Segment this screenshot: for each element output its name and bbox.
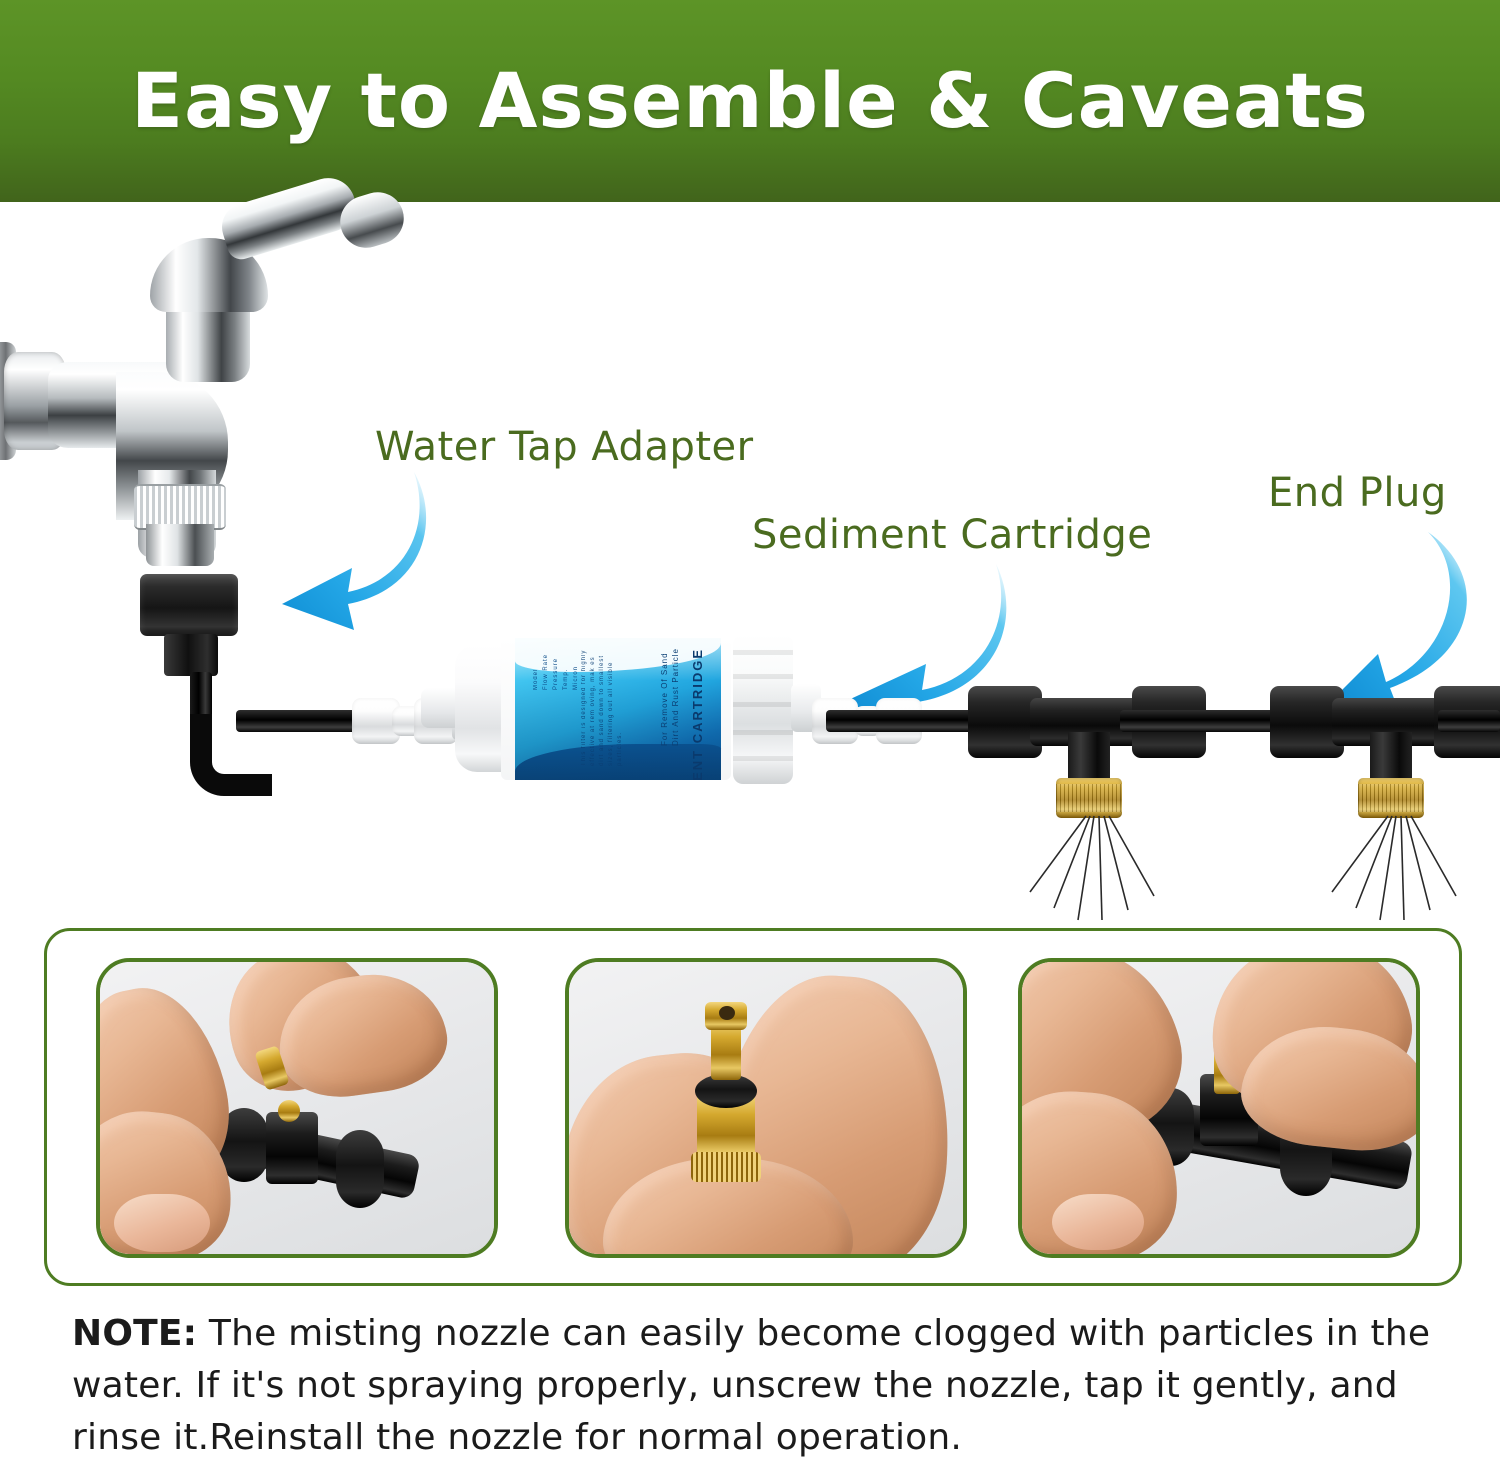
cartridge-housing: SEDIMENT CARTRIDGE For Remove Of Sand Di… xyxy=(501,638,731,780)
cartridge-label-subtitle: For Remove Of Sand Dirt And Rust Particl… xyxy=(659,648,681,746)
page-header-banner: Easy to Assemble & Caveats xyxy=(0,0,1500,202)
hose-segment-a xyxy=(236,710,356,732)
tee1-brass-misting-nozzle xyxy=(1056,778,1122,818)
hose-segment-d xyxy=(1438,710,1500,732)
tee-nozzle-assembly-2 xyxy=(1270,654,1500,884)
label-end-plug: End Plug xyxy=(1268,470,1447,516)
cartridge-label-description: This filter is designed for highly effec… xyxy=(580,648,625,766)
sediment-cartridge-part: SEDIMENT CARTRIDGE For Remove Of Sand Di… xyxy=(455,632,805,792)
tee-nozzle-assembly-1 xyxy=(968,654,1268,884)
infographic-page: Easy to Assemble & Caveats Water Tap Ada… xyxy=(0,0,1500,1459)
cartridge-blue-label: SEDIMENT CARTRIDGE For Remove Of Sand Di… xyxy=(515,638,721,780)
faucet-outlet xyxy=(146,524,214,566)
water-tap-adapter-part xyxy=(140,574,238,636)
photo-tighten-nozzle xyxy=(1018,958,1420,1258)
hose-segment-b xyxy=(826,710,976,732)
arrow-to-tap-adapter-icon xyxy=(236,464,436,634)
cartridge-end-cap-right xyxy=(733,634,793,784)
photo-insert-nozzle xyxy=(96,958,498,1258)
label-sediment-cartridge: Sediment Cartridge xyxy=(752,512,1152,558)
adapter-neck xyxy=(164,634,218,676)
tee1-drop-leg xyxy=(1068,732,1110,784)
cartridge-label-title: SEDIMENT CARTRIDGE xyxy=(690,648,705,780)
page-title: Easy to Assemble & Caveats xyxy=(131,63,1369,139)
cartridge-label-specs: Model Flow Rate Pressure Temp. Micron xyxy=(531,654,581,690)
note-body: The misting nozzle can easily become clo… xyxy=(72,1313,1430,1458)
tee1-mist-spray-icon xyxy=(968,814,1268,934)
tee2-mist-spray-icon xyxy=(1270,814,1500,934)
photo-brass-nozzle-closeup xyxy=(565,958,967,1258)
note-prefix: NOTE: xyxy=(72,1313,197,1354)
note-block: NOTE: The misting nozzle can easily beco… xyxy=(72,1308,1448,1464)
tee2-brass-misting-nozzle xyxy=(1358,778,1424,818)
tee2-drop-leg xyxy=(1370,732,1412,784)
assembly-diagram: Water Tap Adapter Sediment Cartridge End… xyxy=(0,202,1500,917)
